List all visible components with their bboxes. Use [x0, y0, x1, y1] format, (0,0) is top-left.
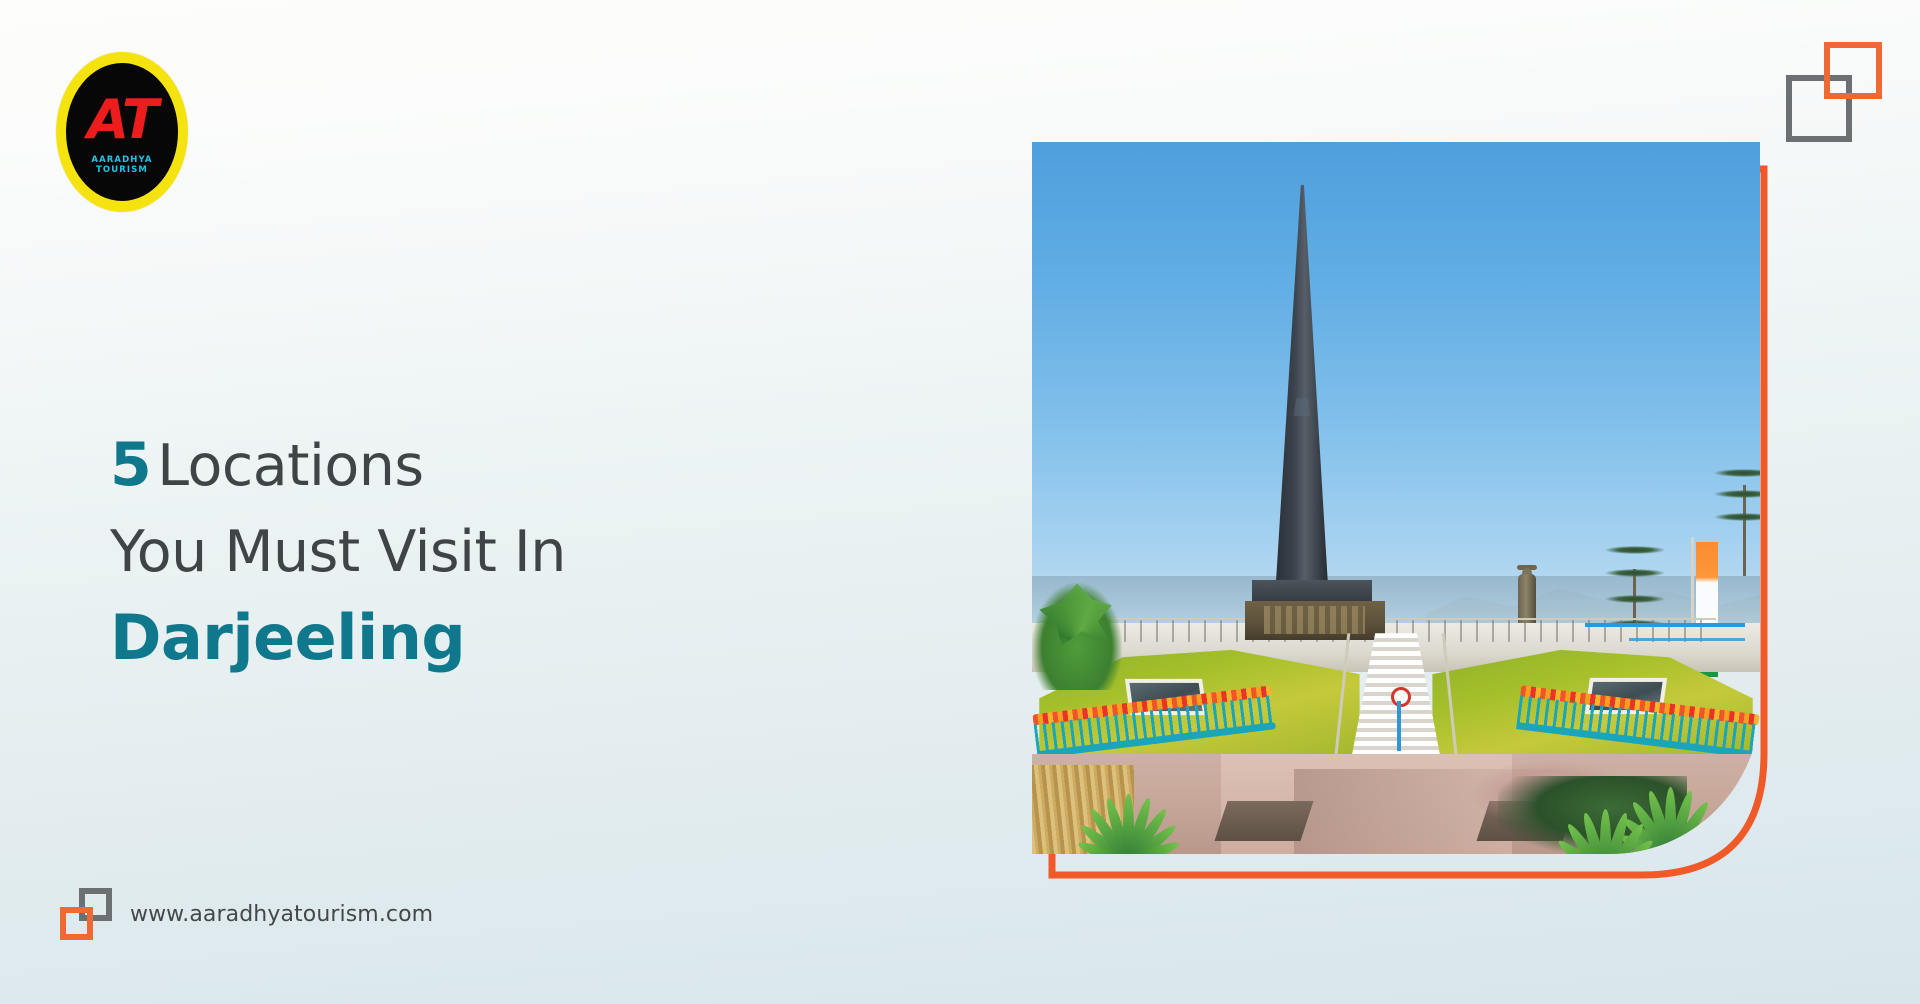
tree-frond: [1714, 490, 1760, 498]
website-url[interactable]: www.aaradhyatourism.com: [130, 902, 433, 927]
monument-plinth-lower: [1245, 601, 1385, 640]
headline-line-1: 5Locations: [110, 422, 870, 509]
headline-line-1-rest: Locations: [157, 433, 423, 499]
agave-plant-left: [1068, 754, 1188, 854]
footer-website[interactable]: www.aaradhyatourism.com: [60, 888, 433, 940]
decor-squares-top-right: [1786, 42, 1882, 142]
hero-photo: [1032, 142, 1760, 854]
circular-sign-icon: [1391, 687, 1411, 707]
monument-plinth-upper: [1252, 580, 1372, 603]
headline-line-2: You Must Visit In: [110, 509, 870, 595]
headline-line-3: Darjeeling: [110, 595, 870, 683]
decor-squares-footer: [60, 888, 112, 940]
blue-railing: [1585, 623, 1745, 627]
orange-square-outline-icon: [1824, 42, 1882, 99]
logo-tagline: AARADHYA TOURISM: [66, 155, 178, 175]
logo-disc: AT AARADHYA TOURISM: [66, 63, 178, 201]
sign-post: [1397, 701, 1401, 751]
page-title: 5Locations You Must Visit In Darjeeling: [110, 422, 870, 683]
orange-square-outline-icon: [60, 907, 93, 940]
photo-scene: [1032, 142, 1760, 854]
headline-number: 5: [110, 430, 151, 500]
tree-frond: [1605, 569, 1665, 577]
blue-railing: [1629, 638, 1745, 641]
tree-frond: [1714, 513, 1760, 521]
tree-frond: [1714, 469, 1760, 477]
tree-frond: [1605, 546, 1665, 554]
drain-grate-left: [1215, 801, 1314, 841]
tree-trunk: [1743, 485, 1746, 576]
tree-frond: [1605, 595, 1665, 603]
brand-logo[interactable]: AT AARADHYA TOURISM: [56, 52, 188, 212]
palm-tree-left: [1032, 583, 1122, 690]
agave-plant-right-2: [1545, 769, 1665, 854]
headline-place: Darjeeling: [110, 601, 465, 674]
logo-monogram: AT: [66, 91, 178, 149]
